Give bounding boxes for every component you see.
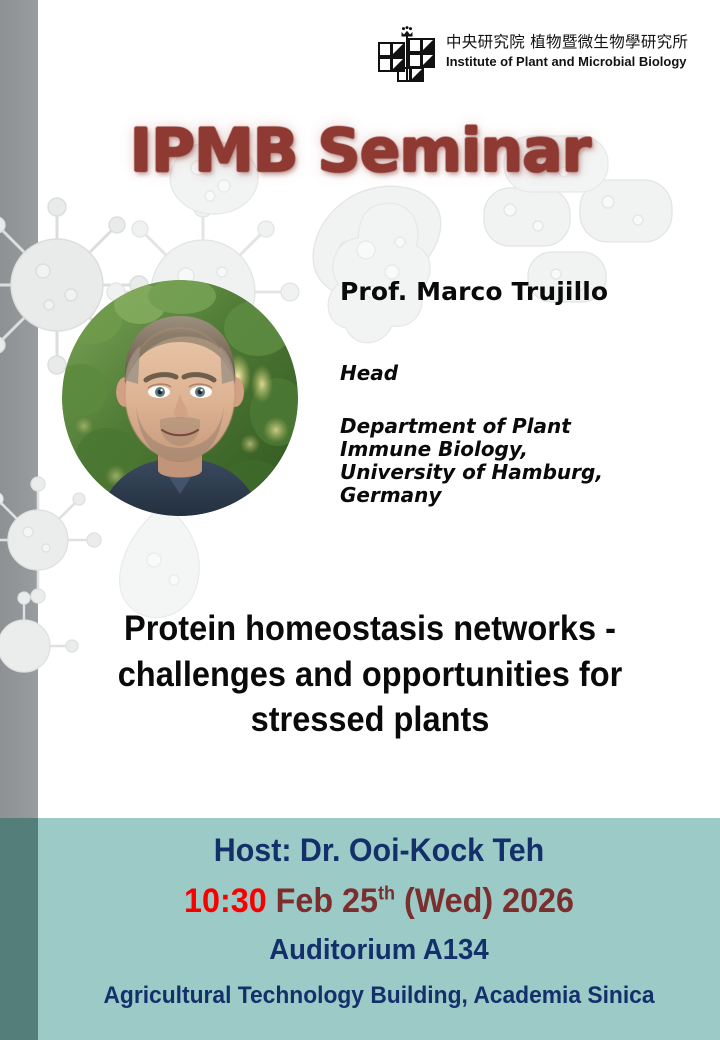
institute-name-english: Institute of Plant and Microbial Biology xyxy=(446,54,702,71)
event-date-ordinal: th xyxy=(378,884,395,905)
host-line: Host: Dr. Ooi-Kock Teh xyxy=(55,832,703,869)
affiliation-line-3: University of Hamburg, xyxy=(340,461,700,484)
event-date-monthday: Feb 25 xyxy=(267,882,378,920)
speaker-affiliation: Department of Plant Immune Biology, Univ… xyxy=(340,415,700,508)
venue-room: Auditorium A134 xyxy=(55,934,703,967)
poster-header: 中央研究院 植物暨微生物學研究所 Institute of Plant and … xyxy=(0,0,720,100)
datetime-line: 10:30 Feb 25th (Wed) 2026 xyxy=(55,882,703,921)
speaker-portrait-photo xyxy=(62,280,298,516)
event-details-footer: Host: Dr. Ooi-Kock Teh 10:30 Feb 25th (W… xyxy=(38,818,720,1040)
talk-title-line-2: challenges and opportunities for xyxy=(63,652,677,698)
speaker-info: Prof. Marco Trujillo Head Department of … xyxy=(340,278,700,508)
talk-title: Protein homeostasis networks - challenge… xyxy=(63,606,677,743)
left-teal-strip xyxy=(0,818,38,1040)
poster-title: IPMB Seminar xyxy=(0,116,720,186)
speaker-name: Prof. Marco Trujillo xyxy=(340,278,700,307)
institute-names: 中央研究院 植物暨微生物學研究所 Institute of Plant and … xyxy=(446,33,702,71)
institute-logo-icon xyxy=(376,26,438,84)
event-time: 10:30 xyxy=(184,882,267,920)
affiliation-line-4: Germany xyxy=(340,484,700,507)
talk-title-line-1: Protein homeostasis networks - xyxy=(63,606,677,652)
affiliation-line-2: Immune Biology, xyxy=(340,438,700,461)
speaker-role: Head xyxy=(340,361,700,385)
seminar-poster: 中央研究院 植物暨微生物學研究所 Institute of Plant and … xyxy=(0,0,720,1040)
affiliation-line-1: Department of Plant xyxy=(340,415,700,438)
poster-title-text: IPMB Seminar xyxy=(130,116,590,186)
institute-name-chinese: 中央研究院 植物暨微生物學研究所 xyxy=(446,33,702,52)
venue-building: Agricultural Technology Building, Academ… xyxy=(55,982,703,1010)
event-date-rest: (Wed) 2026 xyxy=(395,882,574,920)
talk-title-line-3: stressed plants xyxy=(63,697,677,743)
